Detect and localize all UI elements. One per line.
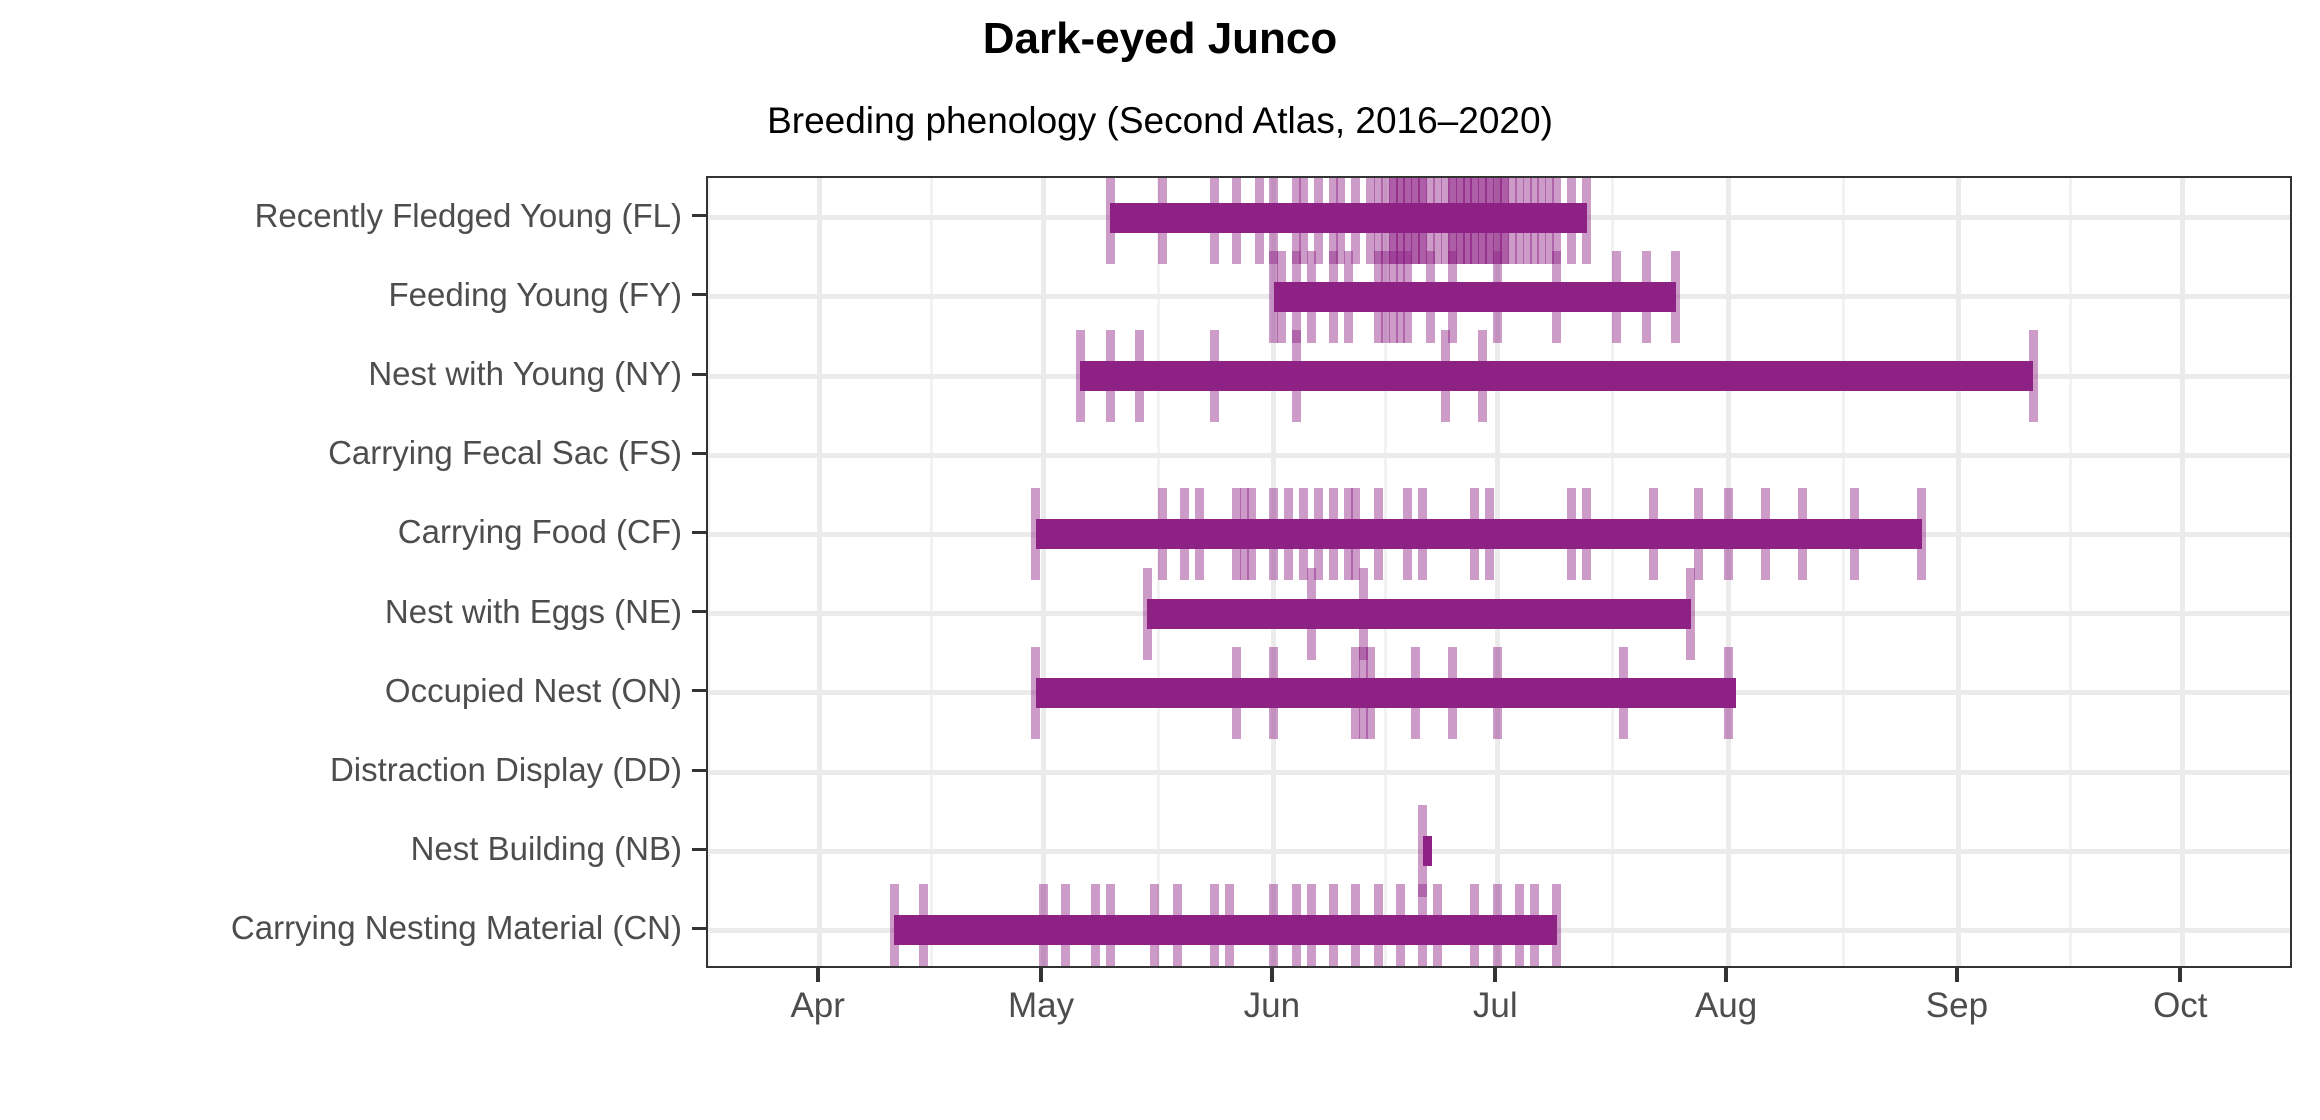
y-axis-tick-mark	[692, 293, 706, 296]
x-axis-tick-mark	[1724, 968, 1728, 982]
x-axis-tick-label-aug: Aug	[1695, 986, 1757, 1026]
y-axis-tick-label-on: Occupied Nest (ON)	[0, 672, 682, 710]
y-axis-tick-label-fs: Carrying Fecal Sac (FS)	[0, 434, 682, 472]
range-bar	[1080, 361, 2033, 391]
x-axis-tick-mark	[1955, 968, 1959, 982]
x-axis-tick-label-apr: Apr	[790, 986, 844, 1026]
gridline-horizontal	[708, 849, 2290, 854]
gridline-horizontal	[708, 770, 2290, 775]
x-axis-tick-mark	[2178, 968, 2182, 982]
chart-subtitle: Breeding phenology (Second Atlas, 2016–2…	[0, 100, 2320, 142]
y-axis-tick-mark	[692, 452, 706, 455]
x-axis-tick-label-sep: Sep	[1926, 986, 1988, 1026]
y-axis-tick-label-ny: Nest with Young (NY)	[0, 355, 682, 393]
y-axis-tick-mark	[692, 214, 706, 217]
range-bar	[1147, 599, 1691, 629]
x-axis-tick-label-jul: Jul	[1473, 986, 1518, 1026]
range-bar	[894, 915, 1557, 945]
chart-title: Dark-eyed Junco	[0, 14, 2320, 64]
y-axis-tick-label-fl: Recently Fledged Young (FL)	[0, 197, 682, 235]
x-axis-label-group: AprMayJunJulAugSepOct	[706, 986, 2292, 1036]
x-axis-tick-label-oct: Oct	[2153, 986, 2207, 1026]
y-axis-tick-mark	[692, 531, 706, 534]
y-axis-tick-mark	[692, 689, 706, 692]
y-axis-tick-label-nb: Nest Building (NB)	[0, 830, 682, 868]
y-axis-tick-label-cf: Carrying Food (CF)	[0, 513, 682, 551]
y-axis-tick-mark	[692, 848, 706, 851]
gridline-horizontal	[708, 453, 2290, 458]
y-axis-label-group: Recently Fledged Young (FL)Feeding Young…	[0, 176, 682, 968]
plot-panel-inner	[708, 178, 2290, 966]
x-axis-tick-label-may: May	[1008, 986, 1074, 1026]
x-axis-tick-mark	[1493, 968, 1497, 982]
x-axis-tickmark-group	[706, 968, 2292, 982]
plot-panel	[706, 176, 2292, 968]
y-axis-tick-label-ne: Nest with Eggs (NE)	[0, 593, 682, 631]
range-bar	[1036, 678, 1736, 708]
x-axis-tick-mark	[1039, 968, 1043, 982]
y-axis-tick-mark	[692, 610, 706, 613]
range-bar	[1423, 836, 1432, 866]
y-axis-tick-label-fy: Feeding Young (FY)	[0, 276, 682, 314]
x-axis-tick-mark	[1270, 968, 1274, 982]
range-bar	[1110, 203, 1587, 233]
y-axis-tick-mark	[692, 927, 706, 930]
phenology-chart-figure: Dark-eyed Junco Breeding phenology (Seco…	[0, 0, 2320, 1120]
range-bar	[1274, 282, 1676, 312]
y-axis-tick-label-dd: Distraction Display (DD)	[0, 751, 682, 789]
x-axis-tick-label-jun: Jun	[1244, 986, 1300, 1026]
y-axis-tick-mark	[692, 373, 706, 376]
range-bar	[1036, 519, 1922, 549]
y-axis-tick-mark	[692, 769, 706, 772]
y-axis-tick-label-cn: Carrying Nesting Material (CN)	[0, 909, 682, 947]
x-axis-tick-mark	[816, 968, 820, 982]
